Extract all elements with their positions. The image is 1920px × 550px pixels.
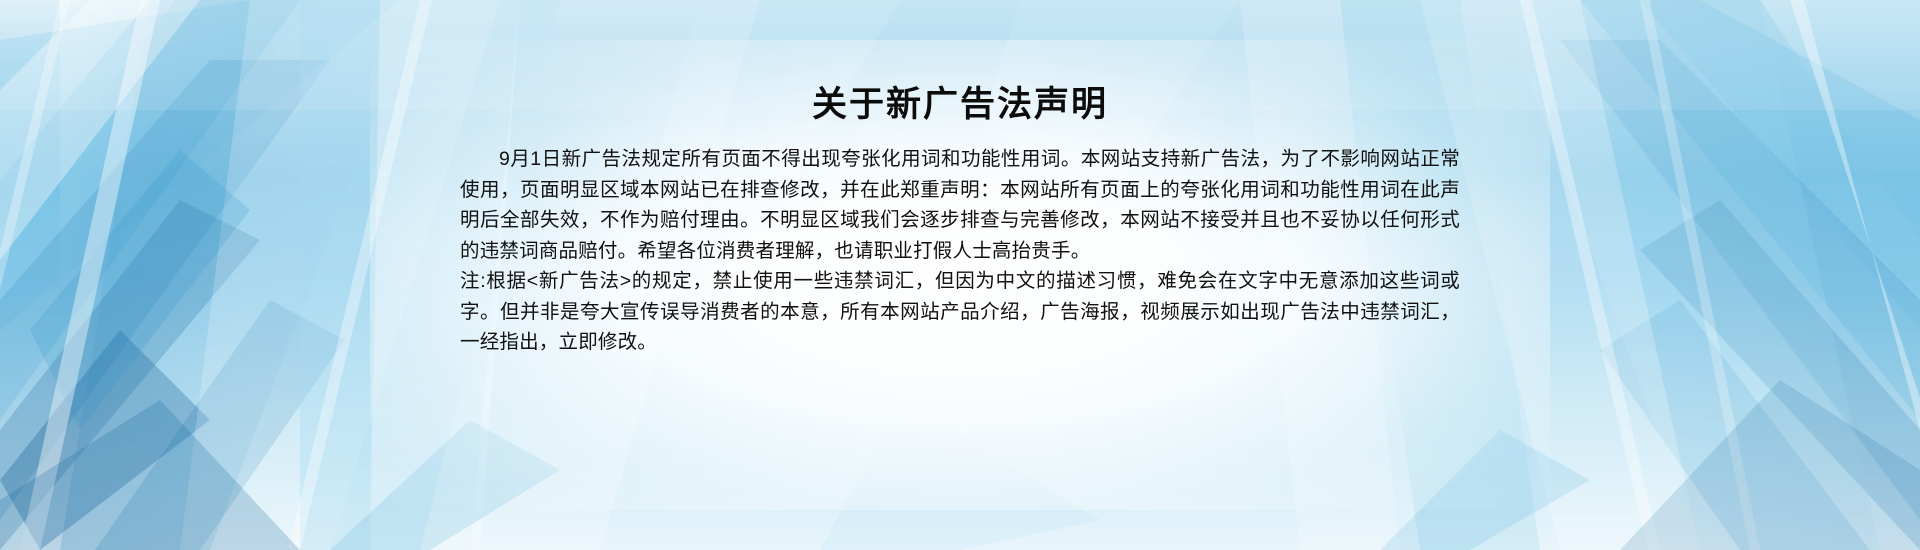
statement-paragraph-1: 9月1日新广告法规定所有页面不得出现夸张化用词和功能性用词。本网站支持新广告法，… [460,144,1460,266]
advertising-law-statement-banner: 关于新广告法声明 9月1日新广告法规定所有页面不得出现夸张化用词和功能性用词。本… [0,0,1920,550]
page-title: 关于新广告法声明 [460,84,1460,126]
statement-paragraph-2: 注:根据<新广告法>的规定，禁止使用一些违禁词汇，但因为中文的描述习惯，难免会在… [460,266,1460,358]
statement-content: 关于新广告法声明 9月1日新广告法规定所有页面不得出现夸张化用词和功能性用词。本… [460,0,1460,358]
